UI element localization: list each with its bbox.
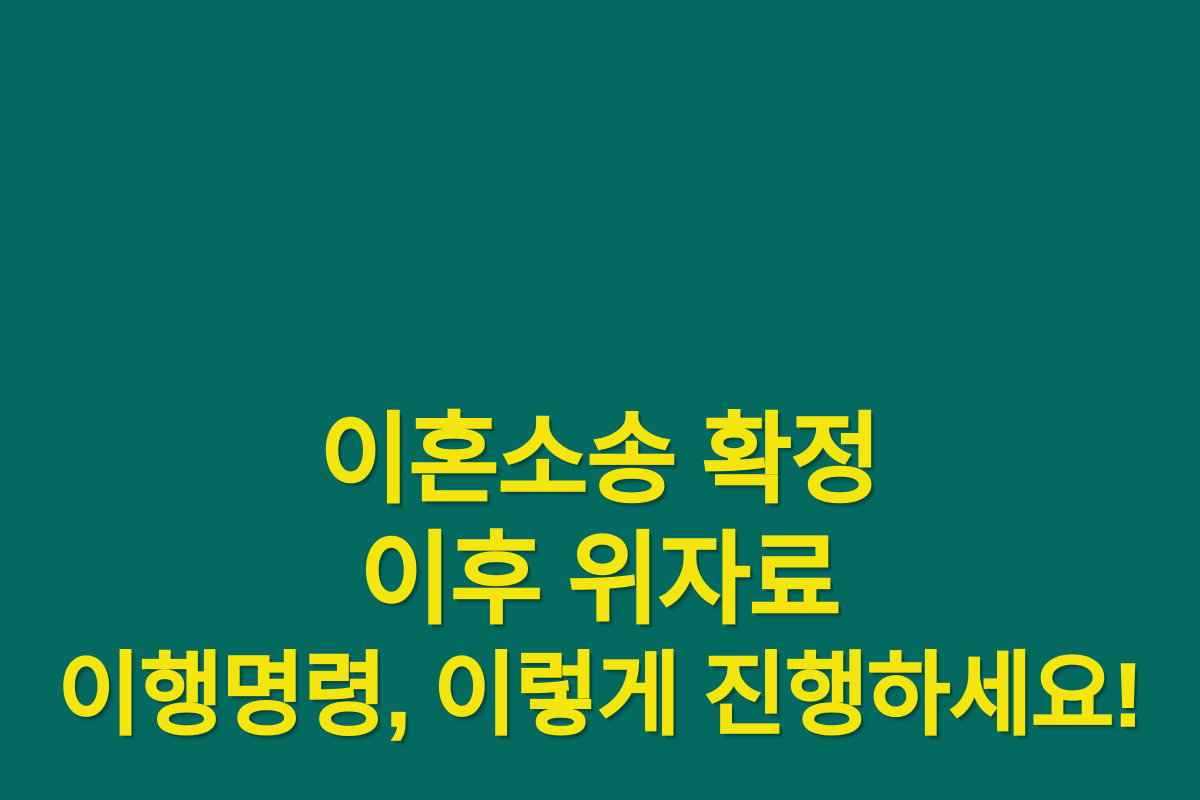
headline-text-block: 이혼소송 확정 이후 위자료 이행명령, 이렇게 진행하세요! [0,400,1200,751]
headline-line-2: 이후 위자료 [360,520,840,642]
headline-line-3: 이행명령, 이렇게 진행하세요! [58,641,1142,751]
headline-line-1: 이혼소송 확정 [320,400,880,520]
banner-canvas: 이혼소송 확정 이후 위자료 이행명령, 이렇게 진행하세요! [0,0,1200,800]
